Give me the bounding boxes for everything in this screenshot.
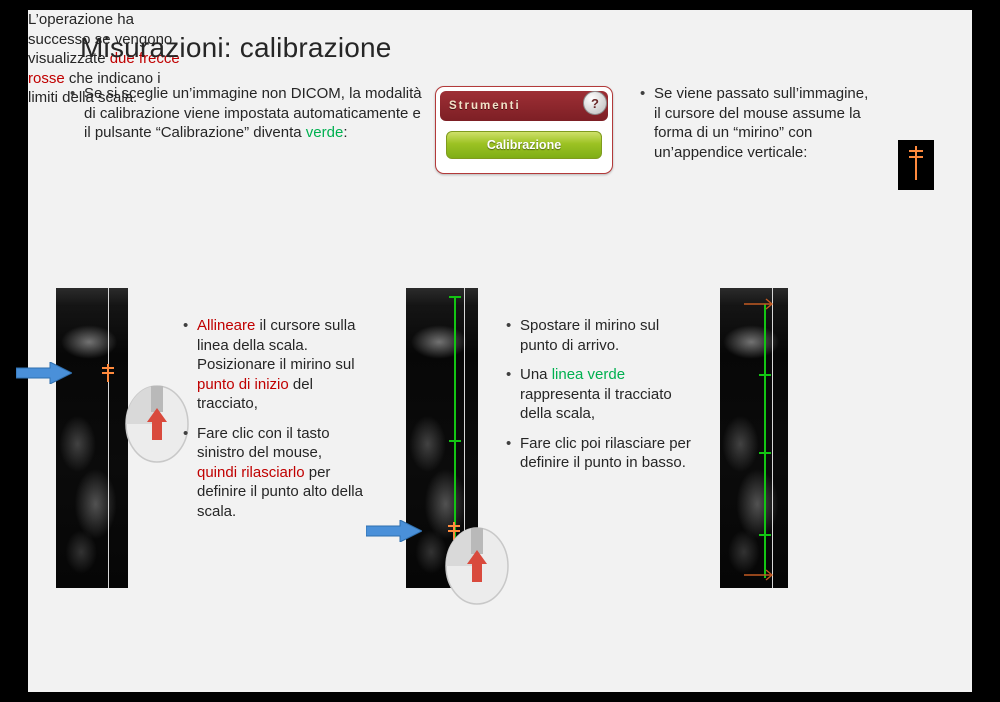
text-run: Una bbox=[520, 366, 552, 383]
green-tick-top bbox=[449, 296, 461, 298]
bullet-dot-icon: • bbox=[506, 434, 520, 473]
green-tick-3a bbox=[759, 374, 771, 376]
panel-top-band bbox=[56, 288, 128, 306]
green-trace-line-2 bbox=[454, 296, 456, 544]
list-item: •Spostare il mirino sul punto di arrivo. bbox=[506, 316, 696, 355]
bullet-list-spostare: •Spostare il mirino sul punto di arrivo.… bbox=[506, 316, 696, 483]
crosshair-cursor-icon bbox=[898, 140, 934, 190]
bullet-dot-icon: • bbox=[506, 365, 520, 424]
list-item: •Se si sceglie un’immagine non DICOM, la… bbox=[70, 84, 430, 143]
list-item: •Se viene passato sull’immagine, il curs… bbox=[640, 84, 875, 162]
bullet-list-allineare: •Allineare il cursore sulla linea della … bbox=[183, 316, 363, 531]
bullet-dot-icon: • bbox=[506, 316, 520, 355]
list-item-text: Se viene passato sull’immagine, il curso… bbox=[654, 84, 875, 162]
ultrasound-image-1 bbox=[56, 288, 128, 588]
bullet-dot-icon: • bbox=[70, 84, 84, 143]
list-item-text: Una linea verde rappresenta il tracciato… bbox=[520, 365, 696, 424]
help-icon[interactable]: ? bbox=[583, 91, 607, 115]
text-run: rappresenta il tracciato della scala, bbox=[520, 386, 672, 423]
text-run: : bbox=[343, 124, 347, 141]
bullet-list-cursor-mirino: •Se viene passato sull’immagine, il curs… bbox=[640, 84, 875, 172]
text-run: verde bbox=[306, 124, 344, 141]
list-item-text: Fare clic poi rilasciare per definire il… bbox=[520, 434, 696, 473]
text-run: Fare clic poi rilasciare per definire il… bbox=[520, 435, 691, 472]
ultrasound-panel-start bbox=[56, 288, 128, 588]
scale-line-1 bbox=[108, 288, 109, 588]
text-run: quindi rilasciarlo bbox=[197, 464, 305, 481]
text-run: Spostare il mirino sul punto di arrivo. bbox=[520, 317, 659, 354]
list-item: •Fare clic con il tasto sinistro del mou… bbox=[183, 424, 363, 522]
list-item: •Fare clic poi rilasciare per definire i… bbox=[506, 434, 696, 473]
calibrazione-button[interactable]: Calibrazione bbox=[446, 131, 602, 159]
page-title: Misurazioni: calibrazione bbox=[80, 32, 392, 64]
strumenti-toolbar-widget[interactable]: Strumenti ? Calibrazione bbox=[435, 86, 613, 174]
red-limit-arrow-bottom bbox=[744, 569, 774, 581]
list-item-text: Allineare il cursore sulla linea della s… bbox=[197, 316, 363, 414]
bullet-dot-icon: • bbox=[640, 84, 654, 162]
text-run: punto di inizio bbox=[197, 376, 289, 393]
bullet-dot-icon: • bbox=[183, 424, 197, 522]
list-item: •Una linea verde rappresenta il tracciat… bbox=[506, 365, 696, 424]
text-run: Fare clic con il tasto sinistro del mous… bbox=[197, 425, 330, 462]
ultrasound-panel-result bbox=[720, 288, 788, 588]
list-item-text: Fare clic con il tasto sinistro del mous… bbox=[197, 424, 363, 522]
green-tick-3b bbox=[759, 452, 771, 454]
bullet-list-non-dicom: •Se si sceglie un’immagine non DICOM, la… bbox=[70, 84, 430, 153]
ultrasound-image-3 bbox=[720, 288, 788, 588]
text-run: Allineare bbox=[197, 317, 255, 334]
blue-pointer-arrow-2 bbox=[366, 520, 422, 542]
mouse-left-click-graphic-2 bbox=[440, 522, 514, 606]
text-run: Se si sceglie un’immagine non DICOM, la … bbox=[84, 85, 422, 141]
blue-pointer-arrow-1 bbox=[16, 362, 72, 384]
bullet-dot-icon: • bbox=[183, 316, 197, 414]
red-limit-arrow-top bbox=[744, 298, 774, 310]
list-item-text: Se si sceglie un’immagine non DICOM, la … bbox=[84, 84, 430, 143]
list-item: •Allineare il cursore sulla linea della … bbox=[183, 316, 363, 414]
green-trace-line-3 bbox=[764, 304, 766, 578]
toolbar-title: Strumenti bbox=[449, 100, 521, 112]
text-run: Se viene passato sull’immagine, il curso… bbox=[654, 85, 868, 161]
text-run: linea verde bbox=[552, 366, 625, 383]
green-tick-mid bbox=[449, 440, 461, 442]
list-item-text: Spostare il mirino sul punto di arrivo. bbox=[520, 316, 696, 355]
slide-canvas: Misurazioni: calibrazione •Se si sceglie… bbox=[28, 10, 972, 692]
scale-line-3 bbox=[772, 288, 773, 588]
panel-top-band-2 bbox=[406, 288, 478, 306]
green-tick-3c bbox=[759, 534, 771, 536]
